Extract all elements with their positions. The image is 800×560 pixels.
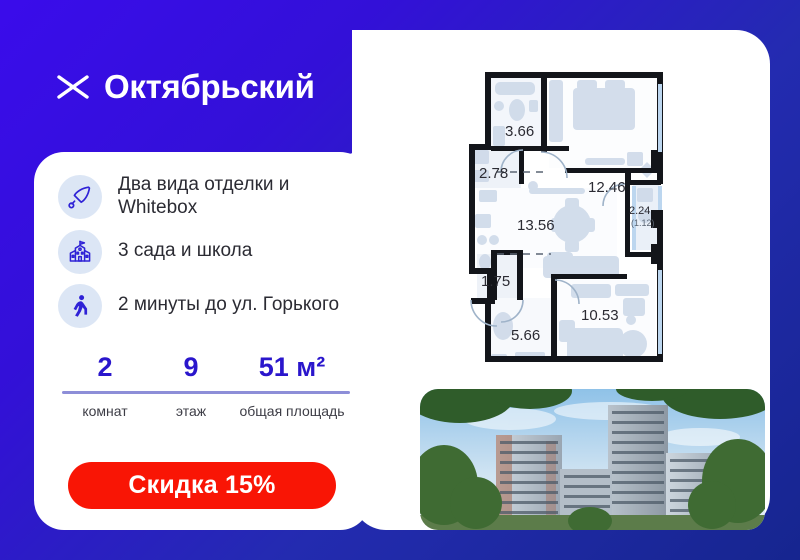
brand-logo[interactable]: Октябрьский — [56, 68, 315, 106]
stats-divider — [62, 391, 350, 394]
stats-values: 2 9 51 м² — [62, 352, 350, 383]
area-label-bedroom-second: 10.53 — [581, 307, 619, 324]
brand-name: Октябрьский — [104, 68, 315, 106]
feature-item-finishing: Два вида отделки и Whitebox — [58, 174, 358, 220]
feature-label: 3 сада и школа — [118, 240, 252, 263]
trowel-icon — [58, 175, 102, 219]
stat-value-rooms: 2 — [62, 352, 148, 383]
stat-area-number: 51 — [259, 352, 289, 382]
school-icon — [58, 230, 102, 274]
floorplan-drawing: 3.66 12.46 2.78 13.56 1.75 5.66 10.53 2.… — [455, 58, 690, 378]
area-label-closet: 2.78 — [479, 165, 508, 182]
area-label-bathroom: 3.66 — [505, 123, 534, 140]
stat-value-area: 51 м² — [234, 352, 350, 383]
area-label-living: 13.56 — [517, 217, 555, 234]
area-label-balcony: 2.24 — [629, 205, 650, 217]
feature-label: Два вида отделки и Whitebox — [118, 174, 358, 220]
x-mark-icon — [56, 70, 90, 104]
feature-label: 2 минуты до ул. Горького — [118, 294, 339, 317]
feature-item-school: 3 сада и школа — [58, 230, 358, 274]
pedestrian-icon — [58, 284, 102, 328]
stat-label-rooms: комнат — [62, 403, 148, 421]
panel-notch — [330, 30, 390, 158]
area-label-hallway: 5.66 — [511, 327, 540, 344]
discount-button[interactable]: Скидка 15% — [68, 462, 336, 509]
stat-area-unit: м² — [296, 352, 325, 382]
area-label-wc: 1.75 — [481, 273, 510, 290]
stat-value-floor: 9 — [148, 352, 234, 383]
building-photo — [420, 389, 765, 530]
ad-banner: Октябрьский Два вида отделки и Whitebox — [0, 0, 800, 560]
stat-label-area: общая площадь — [234, 403, 350, 421]
stats-labels: комнат этаж общая площадь — [62, 403, 350, 421]
area-label-bedroom-main: 12.46 — [588, 179, 626, 196]
area-label-balcony-reduced: (1.12) — [631, 218, 655, 228]
feature-list: Два вида отделки и Whitebox — [58, 174, 358, 338]
stats-block: 2 9 51 м² комнат этаж общая площадь — [62, 352, 350, 421]
info-card: Два вида отделки и Whitebox — [34, 152, 370, 530]
stat-label-floor: этаж — [148, 403, 234, 421]
feature-item-walk: 2 минуты до ул. Горького — [58, 284, 358, 328]
